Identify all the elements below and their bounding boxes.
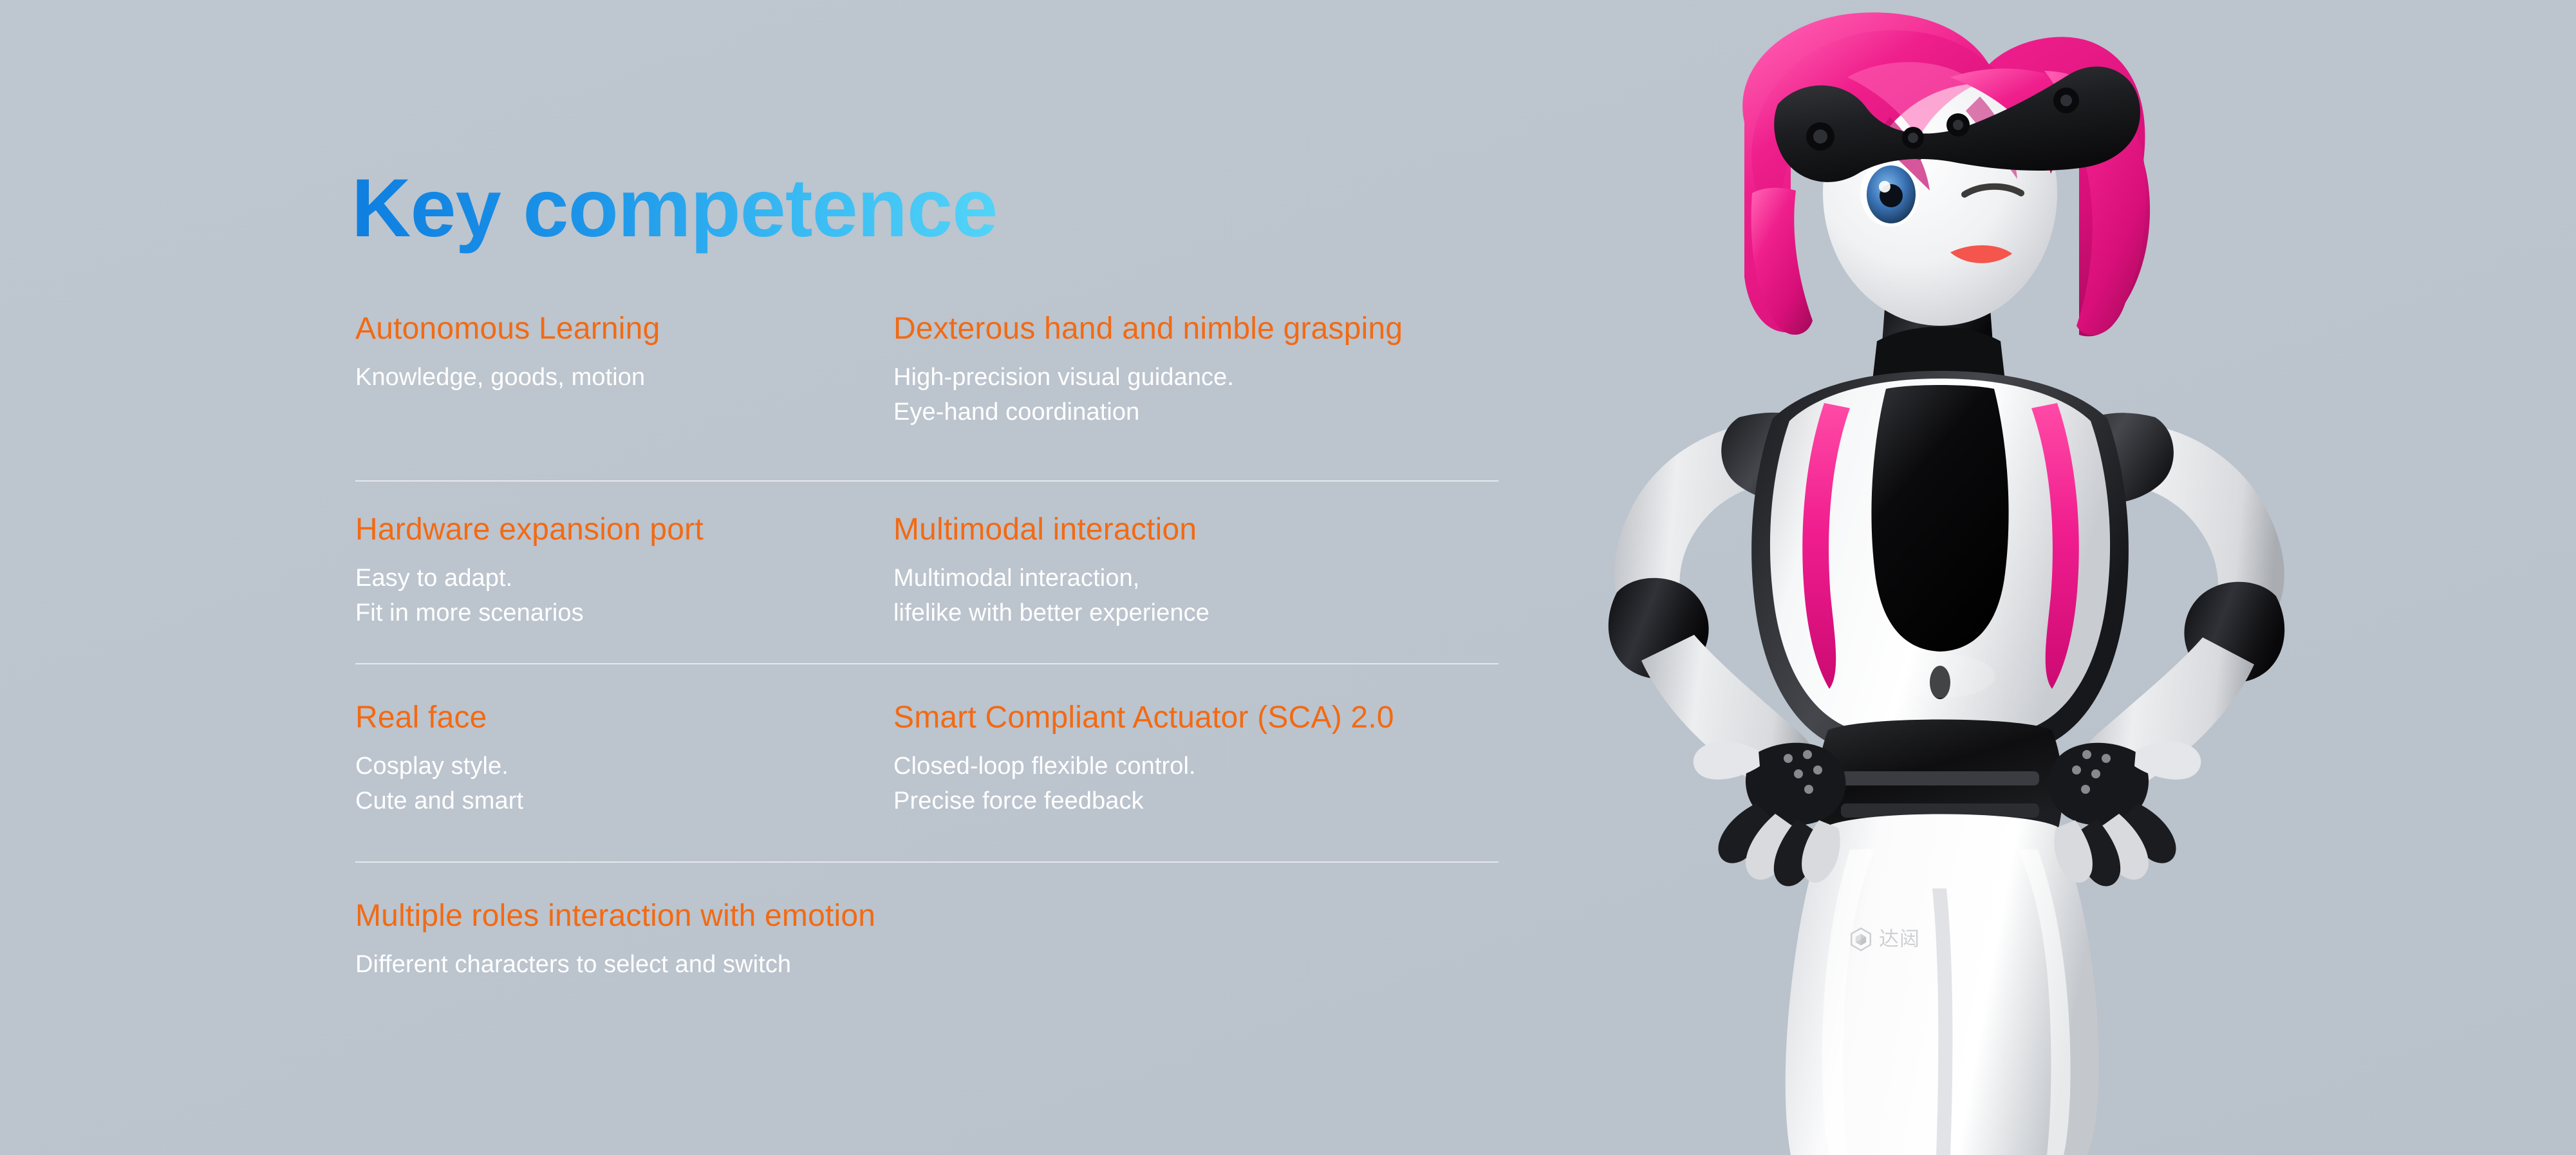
feature-body: Cosplay style. Cute and smart — [355, 749, 878, 819]
robot-mouth — [1950, 245, 2012, 263]
robot-eye-glint — [1879, 181, 1890, 192]
robot-camera-lens-4 — [2053, 88, 2079, 113]
feature-body-line: Knowledge, goods, motion — [355, 361, 878, 395]
robot-hair-front-left — [1751, 30, 2006, 252]
robot-fingers-right — [2054, 803, 2176, 886]
feature-item-multiple-roles-interaction: Multiple roles interaction with emotion … — [355, 861, 1498, 982]
feature-row: Multiple roles interaction with emotion … — [355, 861, 1498, 1016]
robot-chest-highlight — [1885, 654, 1995, 698]
feature-item-dexterous-hand: Dexterous hand and nimble grasping High-… — [893, 308, 1498, 430]
robot-camera-lens-3 — [1946, 113, 1970, 136]
robot-shoulder-left — [1721, 413, 1842, 502]
robot-hair-back — [1742, 12, 2150, 336]
page-title: Key competence — [351, 161, 997, 256]
robot-forearm-left — [1641, 635, 1816, 793]
robot-leg-highlight-left — [1822, 849, 1876, 1155]
feature-heading: Smart Compliant Actuator (SCA) 2.0 — [893, 700, 1498, 735]
slide-root: Key competence Autonomous Learning Knowl… — [0, 0, 2576, 1155]
robot-camera-lens-1 — [1806, 122, 1834, 151]
feature-body-line: Different characters to select and switc… — [355, 948, 1498, 982]
robot-chest-port — [1930, 666, 1950, 699]
robot-illustration — [1500, 0, 2576, 1155]
feature-row: Real face Cosplay style. Cute and smart … — [355, 663, 1498, 861]
feature-body-line: Eye-hand coordination — [893, 395, 1498, 430]
brand-logo: 达闼 — [1849, 927, 1920, 952]
feature-body-line: Precise force feedback — [893, 784, 1498, 819]
feature-body-line: lifelike with better experience — [893, 596, 1498, 631]
feature-heading: Multimodal interaction — [893, 512, 1498, 547]
robot-chest-panel — [1770, 379, 2110, 726]
robot-pupil-left — [1880, 184, 1903, 207]
robot-accent-stripe-left — [1802, 403, 1850, 689]
robot-leg-seam — [1932, 888, 1952, 1155]
feature-item-smart-compliant-actuator: Smart Compliant Actuator (SCA) 2.0 Close… — [893, 663, 1498, 819]
robot-forearm-right — [2081, 637, 2254, 794]
robot-hair-side-right — [2044, 71, 2146, 335]
robot-hand-left — [1746, 743, 1845, 825]
robot-thumb-right — [2134, 742, 2201, 780]
robot-lower-body — [1786, 814, 2099, 1155]
robot-neck — [1881, 291, 1994, 361]
feature-body: High-precision visual guidance. Eye-hand… — [893, 361, 1498, 430]
feature-body-line: Cosplay style. — [355, 749, 878, 784]
robot-eyebrow-left — [1858, 149, 1919, 160]
robot-eyebrow-right — [1962, 146, 2026, 158]
robot-hand-right — [2049, 743, 2149, 825]
feature-grid: Autonomous Learning Knowledge, goods, mo… — [355, 308, 1498, 1016]
robot-face — [1823, 61, 2057, 326]
robot-hair-side-left — [1751, 188, 1813, 335]
robot-eye-white-left — [1860, 160, 1919, 227]
feature-heading: Real face — [355, 700, 878, 735]
feature-body-line: Fit in more scenarios — [355, 596, 878, 631]
feature-item-hardware-expansion-port: Hardware expansion port Easy to adapt. F… — [355, 480, 893, 631]
feature-body: Closed-loop flexible control. Precise fo… — [893, 749, 1498, 819]
robot-hair-strand — [1966, 97, 2017, 179]
robot-head-visor — [1774, 66, 2140, 182]
feature-body: Knowledge, goods, motion — [355, 361, 878, 395]
feature-item-real-face: Real face Cosplay style. Cute and smart — [355, 663, 893, 819]
robot-hair-strand — [1874, 117, 1930, 191]
robot-pelvis-seam-1 — [1841, 771, 2039, 785]
cube-hexagon-icon — [1849, 927, 1873, 952]
feature-body-line: Closed-loop flexible control. — [893, 749, 1498, 784]
robot-leg-highlight-right — [2017, 849, 2071, 1155]
robot-eye-left — [1867, 165, 1916, 223]
robot-chest-cavity — [1871, 385, 2008, 652]
feature-row: Autonomous Learning Knowledge, goods, mo… — [355, 308, 1498, 480]
robot-fingers-left — [1718, 803, 1840, 886]
robot-camera-lens-2-inner — [1908, 133, 1918, 143]
robot-knuckle-dots-left — [1784, 750, 1822, 794]
robot-pelvis — [1817, 720, 2062, 838]
robot-elbow-right — [2184, 582, 2284, 683]
robot-upper-arm-right — [2096, 425, 2284, 637]
robot-camera-lens-3-inner — [1953, 120, 1963, 130]
robot-camera-lens-4-inner — [2060, 95, 2072, 106]
robot-camera-lens-1-inner — [1813, 129, 1827, 144]
feature-heading: Hardware expansion port — [355, 512, 878, 547]
feature-row: Hardware expansion port Easy to adapt. F… — [355, 480, 1498, 663]
feature-heading: Dexterous hand and nimble grasping — [893, 312, 1498, 346]
brand-logo-text: 达闼 — [1879, 930, 1920, 950]
feature-heading: Multiple roles interaction with emotion — [355, 899, 1498, 934]
robot-eye-wink-right — [1965, 187, 2021, 194]
feature-heading: Autonomous Learning — [355, 312, 878, 346]
feature-body-line: Cute and smart — [355, 784, 878, 819]
robot-knuckle-dots-right — [2072, 750, 2111, 794]
feature-item-multimodal-interaction: Multimodal interaction Multimodal intera… — [893, 480, 1498, 631]
robot-camera-lens-2 — [1902, 127, 1924, 149]
feature-item-autonomous-learning: Autonomous Learning Knowledge, goods, mo… — [355, 308, 893, 395]
feature-body: Different characters to select and switc… — [355, 948, 1498, 982]
feature-body-line: High-precision visual guidance. — [893, 361, 1498, 395]
feature-body: Multimodal interaction, lifelike with be… — [893, 561, 1498, 631]
robot-pelvis-seam-2 — [1841, 803, 2039, 818]
feature-body-line: Multimodal interaction, — [893, 561, 1498, 596]
robot-neck-collar — [1872, 327, 2006, 387]
robot-thumb-left — [1694, 742, 1760, 780]
robot-elbow-left — [1609, 578, 1709, 679]
robot-torso-shell — [1751, 371, 2129, 746]
feature-body-line: Easy to adapt. — [355, 561, 878, 596]
robot-shoulder-right — [2055, 413, 2174, 503]
feature-body: Easy to adapt. Fit in more scenarios — [355, 561, 878, 631]
robot-hair-highlight — [1847, 62, 1977, 139]
robot-hair-front-right — [1950, 69, 2113, 174]
robot-accent-stripe-right — [2031, 403, 2079, 689]
robot-upper-arm-left — [1614, 425, 1801, 635]
